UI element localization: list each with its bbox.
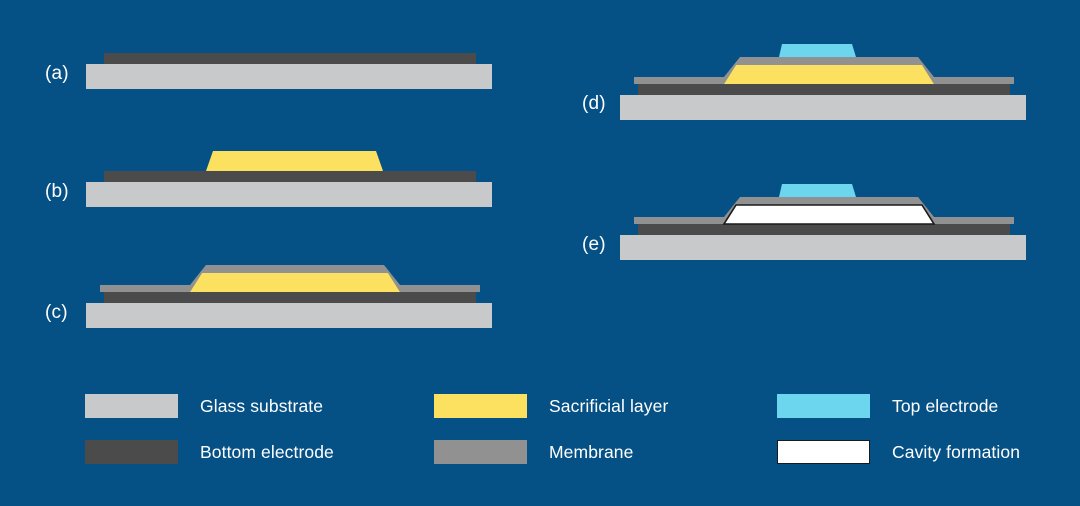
panel-b-sacrificial-layer [206, 151, 383, 171]
legend-label-cavity-formation: Cavity formation [892, 442, 1020, 463]
panel-a-glass-substrate [86, 64, 492, 89]
panel-e-cavity-formation [724, 205, 934, 224]
panel-label-e: (e) [582, 234, 606, 256]
legend-label-top-electrode: Top electrode [892, 396, 998, 417]
panel-a-graphic [86, 53, 492, 89]
panel-e-bottom-electrode [638, 224, 1010, 236]
panel-label-b: (b) [45, 181, 69, 203]
panel-e-graphic [620, 184, 1026, 260]
panel-label-d: (d) [582, 93, 606, 115]
panel-e-glass-substrate [620, 235, 1026, 260]
panel-e-top-electrode [779, 184, 856, 197]
legend-label-sacrificial-layer: Sacrificial layer [549, 396, 668, 417]
legend-label-membrane: Membrane [549, 442, 633, 463]
legend-item-top-electrode: Top electrode [777, 394, 998, 418]
panel-label-c: (c) [45, 302, 68, 324]
legend-item-bottom-electrode: Bottom electrode [85, 440, 334, 464]
legend-item-cavity-formation: Cavity formation [777, 440, 1020, 464]
legend-swatch-sacrificial-layer [434, 394, 527, 418]
legend-label-bottom-electrode: Bottom electrode [200, 442, 334, 463]
panel-c-glass-substrate [86, 303, 492, 328]
legend-swatch-glass-substrate [85, 394, 178, 418]
panel-d-graphic [620, 44, 1026, 120]
legend-item-membrane: Membrane [434, 440, 633, 464]
panel-b-glass-substrate [86, 182, 492, 207]
legend-item-glass-substrate: Glass substrate [85, 394, 323, 418]
panel-c-sacrificial-layer [190, 273, 400, 292]
panel-a-bottom-electrode [104, 53, 476, 65]
panel-d-sacrificial-layer [724, 65, 934, 84]
panel-d-top-electrode [779, 44, 856, 57]
legend-label-glass-substrate: Glass substrate [200, 396, 323, 417]
panel-c-bottom-electrode [104, 292, 476, 304]
legend-swatch-top-electrode [777, 394, 870, 418]
panel-label-a: (a) [45, 63, 69, 85]
legend-swatch-membrane [434, 440, 527, 464]
process-flow-diagram [0, 0, 1080, 506]
panel-c-graphic [86, 265, 492, 328]
legend-swatch-cavity-formation [777, 440, 870, 464]
legend-swatch-bottom-electrode [85, 440, 178, 464]
panel-b-graphic [86, 151, 492, 207]
legend-item-sacrificial-layer: Sacrificial layer [434, 394, 668, 418]
figure-canvas: (a) (b) (c) (d) (e) Glass substrate Bott… [0, 0, 1080, 506]
panel-d-bottom-electrode [638, 84, 1010, 96]
panel-d-glass-substrate [620, 95, 1026, 120]
panel-b-bottom-electrode [104, 171, 476, 183]
